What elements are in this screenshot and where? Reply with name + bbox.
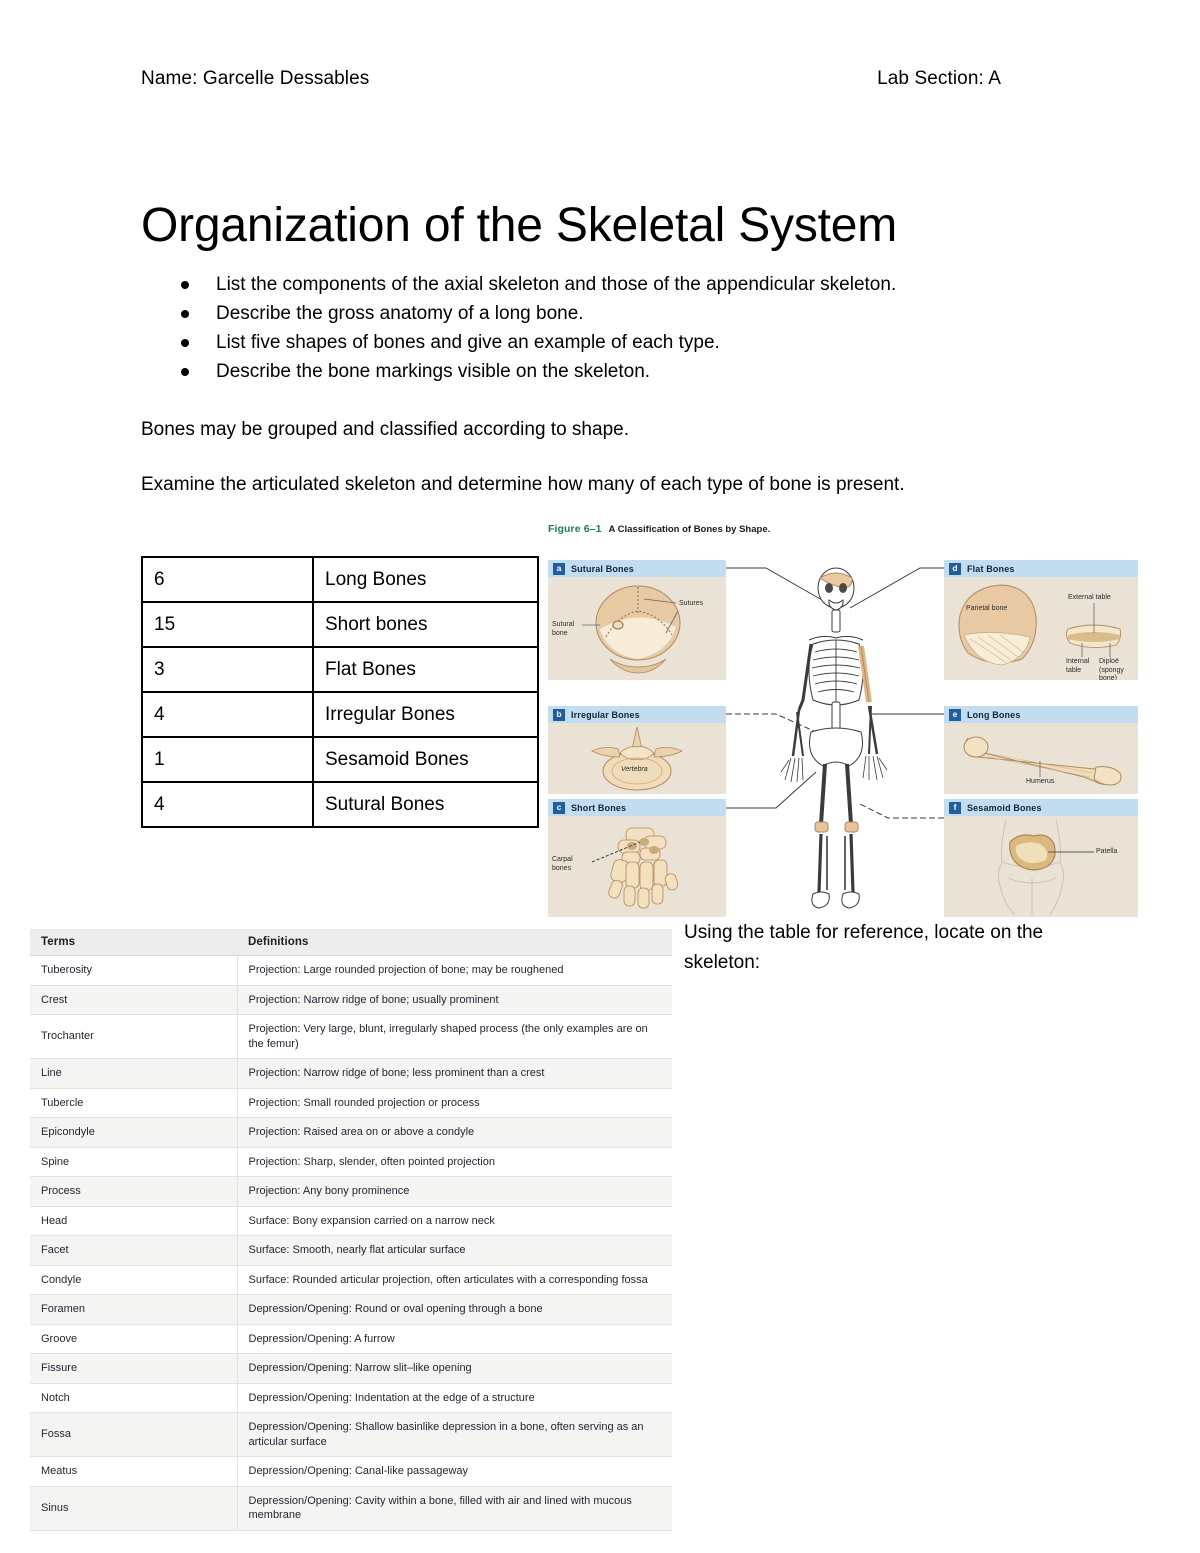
term-cell: Epicondyle bbox=[30, 1118, 237, 1148]
term-cell: Head bbox=[30, 1206, 237, 1236]
table-row: Trochanter Projection: Very large, blunt… bbox=[30, 1015, 672, 1059]
label-parietal-bone: Parietal bone bbox=[966, 605, 1007, 614]
term-cell: Foramen bbox=[30, 1295, 237, 1325]
list-item: Describe the bone markings visible on th… bbox=[176, 359, 1026, 386]
label-carpal-bones: Carpal bones bbox=[552, 856, 584, 873]
figure-panel-irregular-bones: b Irregular Bones Vertebra bbox=[548, 706, 726, 794]
term-cell: Trochanter bbox=[30, 1015, 237, 1059]
list-item: List the components of the axial skeleto… bbox=[176, 272, 1026, 299]
label-sutural-bone: Sutural bone bbox=[552, 621, 582, 638]
definition-cell: Projection: Narrow ridge of bone; less p… bbox=[237, 1059, 672, 1089]
bone-count-value[interactable]: 4 bbox=[142, 782, 313, 827]
definition-cell: Projection: Raised area on or above a co… bbox=[237, 1118, 672, 1148]
panel-badge-icon: e bbox=[949, 709, 961, 721]
bullet-icon bbox=[181, 281, 189, 289]
label-vertebra: Vertebra bbox=[621, 766, 648, 775]
panel-title: Irregular Bones bbox=[571, 710, 640, 720]
table-row: Facet Surface: Smooth, nearly flat artic… bbox=[30, 1236, 672, 1266]
panel-badge-icon: c bbox=[553, 802, 565, 814]
panel-header: a Sutural Bones bbox=[548, 560, 726, 577]
panel-header: f Sesamoid Bones bbox=[944, 799, 1138, 816]
table-row: Fossa Depression/Opening: Shallow basinl… bbox=[30, 1413, 672, 1457]
term-cell: Fossa bbox=[30, 1413, 237, 1457]
term-cell: Notch bbox=[30, 1383, 237, 1413]
definition-cell: Depression/Opening: Shallow basinlike de… bbox=[237, 1413, 672, 1457]
bone-count-value[interactable]: 1 bbox=[142, 737, 313, 782]
definition-cell: Surface: Bony expansion carried on a nar… bbox=[237, 1206, 672, 1236]
table-row: Fissure Depression/Opening: Narrow slit–… bbox=[30, 1354, 672, 1384]
term-cell: Line bbox=[30, 1059, 237, 1089]
table-row: Condyle Surface: Rounded articular proje… bbox=[30, 1265, 672, 1295]
bone-type-label: Irregular Bones bbox=[313, 692, 538, 737]
label-internal-table: Internal table bbox=[1066, 658, 1098, 675]
panel-badge-icon: b bbox=[553, 709, 565, 721]
term-cell: Facet bbox=[30, 1236, 237, 1266]
term-cell: Process bbox=[30, 1177, 237, 1207]
bullet-icon bbox=[181, 368, 189, 376]
term-cell: Groove bbox=[30, 1324, 237, 1354]
label-patella: Patella bbox=[1096, 848, 1117, 857]
table-row: 4 Irregular Bones bbox=[142, 692, 538, 737]
paragraph-instruction: Examine the articulated skeleton and det… bbox=[141, 472, 905, 498]
definition-cell: Surface: Rounded articular projection, o… bbox=[237, 1265, 672, 1295]
panel-header: c Short Bones bbox=[548, 799, 726, 816]
table-row: Sinus Depression/Opening: Cavity within … bbox=[30, 1486, 672, 1530]
bone-type-label: Short bones bbox=[313, 602, 538, 647]
objectives-list: List the components of the axial skeleto… bbox=[176, 272, 1026, 388]
definition-cell: Depression/Opening: Round or oval openin… bbox=[237, 1295, 672, 1325]
bone-type-label: Sutural Bones bbox=[313, 782, 538, 827]
table-row: 1 Sesamoid Bones bbox=[142, 737, 538, 782]
term-cell: Condyle bbox=[30, 1265, 237, 1295]
panel-badge-icon: d bbox=[949, 563, 961, 575]
definition-cell: Depression/Opening: Narrow slit–like ope… bbox=[237, 1354, 672, 1384]
bullet-icon bbox=[181, 339, 189, 347]
figure-panel-sutural-bones: a Sutural Bones Sutures Sutural bone bbox=[548, 560, 726, 680]
table-row: Process Projection: Any bony prominence bbox=[30, 1177, 672, 1207]
table-row: Meatus Depression/Opening: Canal-like pa… bbox=[30, 1457, 672, 1487]
table-row: Tubercle Projection: Small rounded proje… bbox=[30, 1088, 672, 1118]
bone-count-value[interactable]: 4 bbox=[142, 692, 313, 737]
table-row: Foramen Depression/Opening: Round or ova… bbox=[30, 1295, 672, 1325]
table-row: Notch Depression/Opening: Indentation at… bbox=[30, 1383, 672, 1413]
panel-body: Vertebra bbox=[548, 723, 726, 794]
definition-cell: Depression/Opening: Canal-like passagewa… bbox=[237, 1457, 672, 1487]
table-header-row: Terms Definitions bbox=[30, 929, 672, 956]
figure-caption: Figure 6–1A Classification of Bones by S… bbox=[548, 523, 770, 535]
page-title: Organization of the Skeletal System bbox=[141, 198, 897, 253]
definition-cell: Depression/Opening: Indentation at the e… bbox=[237, 1383, 672, 1413]
bone-type-label: Flat Bones bbox=[313, 647, 538, 692]
figure-title: A Classification of Bones by Shape. bbox=[609, 524, 771, 535]
panel-body: Carpal bones bbox=[548, 816, 726, 917]
term-cell: Crest bbox=[30, 985, 237, 1015]
panel-title: Sutural Bones bbox=[571, 564, 634, 574]
figure-body: a Sutural Bones Sutures Sutural bone bbox=[548, 546, 1138, 895]
lab-section: Lab Section: A bbox=[877, 68, 1001, 90]
table-row: 4 Sutural Bones bbox=[142, 782, 538, 827]
definition-cell: Depression/Opening: Cavity within a bone… bbox=[237, 1486, 672, 1530]
label-diploe: Diploë (spongy bone) bbox=[1099, 658, 1135, 680]
label-humerus: Humerus bbox=[1026, 778, 1054, 787]
definition-cell: Projection: Very large, blunt, irregular… bbox=[237, 1015, 672, 1059]
table-row: 15 Short bones bbox=[142, 602, 538, 647]
bone-count-value[interactable]: 15 bbox=[142, 602, 313, 647]
figure-panel-flat-bones: d Flat Bones Parietal bone bbox=[944, 560, 1138, 680]
panel-header: e Long Bones bbox=[944, 706, 1138, 723]
bone-type-label: Sesamoid Bones bbox=[313, 737, 538, 782]
side-instruction-text: Using the table for reference, locate on… bbox=[684, 918, 1084, 978]
table-row: Tuberosity Projection: Large rounded pro… bbox=[30, 956, 672, 986]
term-cell: Tuberosity bbox=[30, 956, 237, 986]
panel-body: Parietal bone External table Internal ta… bbox=[944, 577, 1138, 680]
patella-knee-illustration bbox=[944, 816, 1138, 917]
term-cell: Spine bbox=[30, 1147, 237, 1177]
definition-cell: Surface: Smooth, nearly flat articular s… bbox=[237, 1236, 672, 1266]
panel-badge-icon: a bbox=[553, 563, 565, 575]
table-row: 6 Long Bones bbox=[142, 557, 538, 602]
articulated-skeleton-illustration bbox=[741, 560, 931, 917]
term-cell: Meatus bbox=[30, 1457, 237, 1487]
table-row: Crest Projection: Narrow ridge of bone; … bbox=[30, 985, 672, 1015]
bone-count-table: 6 Long Bones 15 Short bones 3 Flat Bones… bbox=[141, 556, 539, 828]
figure-panel-sesamoid-bones: f Sesamoid Bones Patella bbox=[944, 799, 1138, 917]
vertebra-illustration bbox=[548, 723, 726, 794]
paragraph-classification: Bones may be grouped and classified acco… bbox=[141, 417, 629, 443]
label-external-table: External table bbox=[1068, 594, 1111, 603]
panel-body: Patella bbox=[944, 816, 1138, 917]
list-item: Describe the gross anatomy of a long bon… bbox=[176, 301, 1026, 328]
figure-panel-short-bones: c Short Bones bbox=[548, 799, 726, 917]
column-header-terms: Terms bbox=[30, 929, 237, 956]
objective-text: Describe the gross anatomy of a long bon… bbox=[216, 303, 584, 324]
term-cell: Sinus bbox=[30, 1486, 237, 1530]
table-row: Spine Projection: Sharp, slender, often … bbox=[30, 1147, 672, 1177]
term-cell: Tubercle bbox=[30, 1088, 237, 1118]
table-row: Line Projection: Narrow ridge of bone; l… bbox=[30, 1059, 672, 1089]
column-header-definitions: Definitions bbox=[237, 929, 672, 956]
figure-number: Figure 6–1 bbox=[548, 523, 602, 535]
definition-cell: Projection: Sharp, slender, often pointe… bbox=[237, 1147, 672, 1177]
definition-cell: Projection: Small rounded projection or … bbox=[237, 1088, 672, 1118]
definition-cell: Projection: Large rounded projection of … bbox=[237, 956, 672, 986]
panel-title: Flat Bones bbox=[967, 564, 1015, 574]
objective-text: List five shapes of bones and give an ex… bbox=[216, 332, 720, 353]
figure-panel-long-bones: e Long Bones Humerus bbox=[944, 706, 1138, 794]
bullet-icon bbox=[181, 310, 189, 318]
table-row: Head Surface: Bony expansion carried on … bbox=[30, 1206, 672, 1236]
panel-body: Humerus bbox=[944, 723, 1138, 794]
panel-title: Long Bones bbox=[967, 710, 1021, 720]
panel-header: d Flat Bones bbox=[944, 560, 1138, 577]
definition-cell: Projection: Any bony prominence bbox=[237, 1177, 672, 1207]
list-item: List five shapes of bones and give an ex… bbox=[176, 330, 1026, 357]
figure-bone-classification: Figure 6–1A Classification of Bones by S… bbox=[548, 523, 1138, 895]
panel-body: Sutures Sutural bone bbox=[548, 577, 726, 680]
panel-title: Short Bones bbox=[571, 803, 626, 813]
document-header: Name: Garcelle Dessables Lab Section: A bbox=[141, 68, 1001, 90]
objective-text: Describe the bone markings visible on th… bbox=[216, 361, 650, 382]
bone-markings-table: Terms Definitions Tuberosity Projection:… bbox=[30, 929, 672, 1531]
table-row: 3 Flat Bones bbox=[142, 647, 538, 692]
panel-header: b Irregular Bones bbox=[548, 706, 726, 723]
bone-count-value[interactable]: 3 bbox=[142, 647, 313, 692]
table-row: Groove Depression/Opening: A furrow bbox=[30, 1324, 672, 1354]
label-sutures: Sutures bbox=[679, 600, 703, 609]
definition-cell: Depression/Opening: A furrow bbox=[237, 1324, 672, 1354]
student-name: Name: Garcelle Dessables bbox=[141, 68, 369, 90]
definition-cell: Projection: Narrow ridge of bone; usuall… bbox=[237, 985, 672, 1015]
bone-type-label: Long Bones bbox=[313, 557, 538, 602]
objective-text: List the components of the axial skeleto… bbox=[216, 274, 896, 295]
term-cell: Fissure bbox=[30, 1354, 237, 1384]
bone-count-value[interactable]: 6 bbox=[142, 557, 313, 602]
table-row: Epicondyle Projection: Raised area on or… bbox=[30, 1118, 672, 1148]
panel-badge-icon: f bbox=[949, 802, 961, 814]
panel-title: Sesamoid Bones bbox=[967, 803, 1042, 813]
